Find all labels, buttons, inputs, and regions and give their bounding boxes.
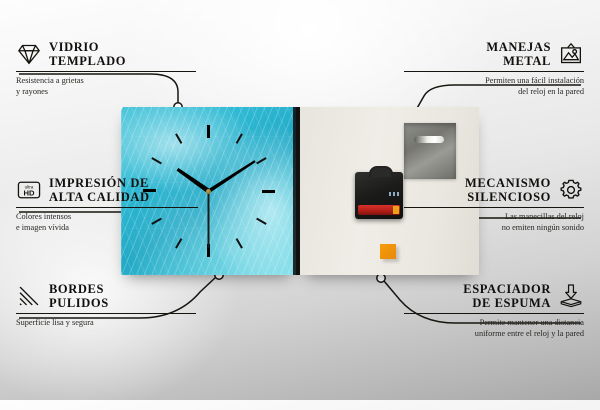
callout-description: Resistencia a grietas y rayones (16, 76, 196, 97)
callout-divider (16, 313, 196, 314)
polished-edges-icon (16, 283, 42, 309)
callout-header: MECANISMO SILENCIOSO (404, 176, 584, 204)
callout-title: MECANISMO SILENCIOSO (404, 176, 551, 204)
callout-header: BORDES PULIDOS (16, 282, 196, 310)
callout-title: BORDES PULIDOS (49, 282, 109, 310)
foam-spacer (380, 244, 396, 259)
callout-description: Colores intensos e imagen vívida (16, 212, 198, 233)
callout-divider (404, 313, 584, 314)
callout-header: ESPACIADOR DE ESPUMA (404, 282, 584, 310)
callout-impresion-alta-calidad: ultra HD IMPRESIÓN DE ALTA CALIDAD Color… (16, 176, 198, 233)
callout-vidrio-templado: VIDRIO TEMPLADO Resistencia a grietas y … (16, 40, 196, 97)
ultra-hd-icon: ultra HD (16, 177, 42, 203)
clock-second-hand (208, 191, 210, 248)
callout-mecanismo-silencioso: MECANISMO SILENCIOSO Las manecillas del … (404, 176, 584, 233)
svg-text:HD: HD (23, 189, 35, 198)
callout-bordes-pulidos: BORDES PULIDOS Superficie lisa y segura (16, 282, 196, 329)
picture-hanger-icon (558, 41, 584, 67)
diamond-icon (16, 41, 42, 67)
clock-center-cap (206, 189, 211, 194)
callout-divider (16, 207, 198, 208)
callout-manejas-metal: MANEJAS METAL Permiten una fácil instala… (404, 40, 584, 97)
battery (358, 205, 400, 215)
callout-title: VIDRIO TEMPLADO (49, 40, 126, 68)
callout-description: Las manecillas del reloj no emiten ningú… (404, 212, 584, 233)
foam-spacer-icon (558, 283, 584, 309)
metal-hanger-plate (404, 123, 456, 179)
callout-title: MANEJAS METAL (404, 40, 551, 68)
callout-espaciador-espuma: ESPACIADOR DE ESPUMA Permite mantener un… (404, 282, 584, 339)
movement-hook (369, 166, 393, 177)
clock-minute-hand (207, 159, 255, 192)
quartz-movement (355, 172, 403, 219)
infographic-stage: VIDRIO TEMPLADO Resistencia a grietas y … (0, 0, 600, 400)
callout-divider (404, 207, 584, 208)
callout-header: MANEJAS METAL (404, 40, 584, 68)
callout-title: ESPACIADOR DE ESPUMA (404, 282, 551, 310)
gear-icon (558, 177, 584, 203)
callout-divider (16, 71, 196, 72)
callout-header: ultra HD IMPRESIÓN DE ALTA CALIDAD (16, 176, 198, 204)
movement-label (389, 192, 399, 196)
callout-description: Permiten una fácil instalación del reloj… (404, 76, 584, 97)
callout-description: Superficie lisa y segura (16, 318, 196, 328)
callout-divider (404, 71, 584, 72)
callout-header: VIDRIO TEMPLADO (16, 40, 196, 68)
callout-description: Permite mantener una distancia uniforme … (404, 318, 584, 339)
callout-title: IMPRESIÓN DE ALTA CALIDAD (49, 176, 150, 204)
